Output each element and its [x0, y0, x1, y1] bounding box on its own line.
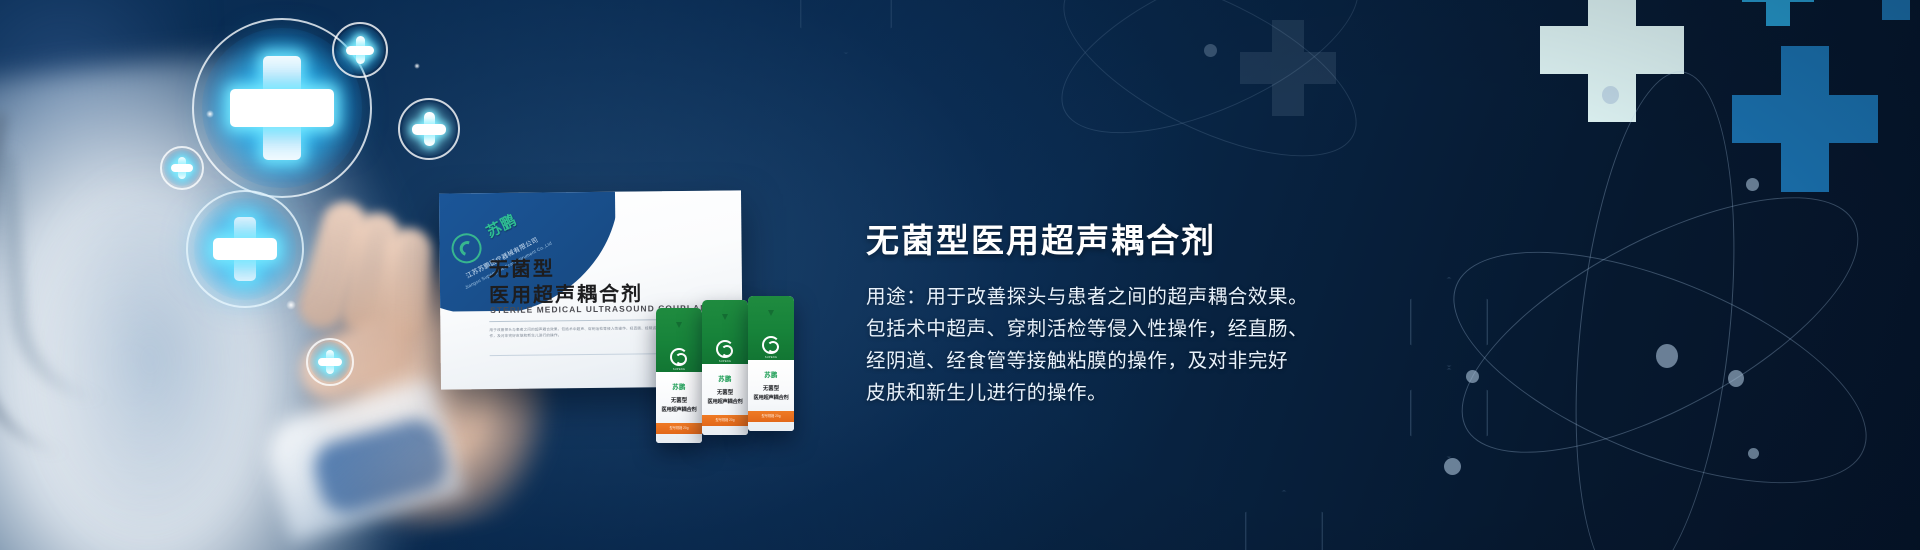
sachet-line1: 无菌型: [656, 396, 702, 404]
sachet-line2: 医用超声耦合剂: [702, 398, 748, 405]
banner-headline: 无菌型医用超声耦合剂: [866, 214, 1216, 262]
glow-cross-icon: [160, 146, 204, 190]
sachet: SUPENG 苏鹏 无菌型 医用超声耦合剂 型号规格 20g: [656, 308, 702, 443]
sachet-brand: 苏鹏: [656, 382, 702, 391]
glow-cross-icon: [186, 190, 304, 308]
sachet-weight-band: 型号规格 20g: [656, 423, 702, 434]
sachet-line2: 医用超声耦合剂: [656, 406, 702, 413]
sachet-swirl-caption: SUPENG: [748, 356, 794, 359]
sachet-swirl-caption: SUPENG: [656, 368, 702, 371]
sachet-brand: 苏鹏: [702, 374, 748, 383]
sachet: SUPENG 苏鹏 无菌型 医用超声耦合剂 型号规格 20g: [702, 300, 748, 435]
glow-cross-icon: [332, 22, 388, 78]
sachet-brand: 苏鹏: [748, 370, 794, 379]
sparkle-icon: [206, 110, 214, 118]
sachet-weight-band: 型号规格 20g: [748, 411, 794, 422]
sachet-line1: 无菌型: [702, 388, 748, 396]
sachet-weight: 型号规格 20g: [702, 415, 748, 426]
description-line: 皮肤和新生儿进行的操作。: [866, 377, 1308, 409]
product-banner: 苏鹏 江苏苏鹏医疗器械有限公司 Jiangsu Supeng Medical I…: [0, 0, 1920, 550]
sachet-weight: 型号规格 20g: [656, 423, 702, 434]
sachet-line2: 医用超声耦合剂: [748, 394, 794, 401]
description-line: 用途：用于改善探头与患者之间的超声耦合效果。: [866, 281, 1308, 313]
sachet-line1: 无菌型: [748, 384, 794, 392]
sachet-weight-band: 型号规格 20g: [702, 415, 748, 426]
glow-cross-icon: [398, 98, 460, 160]
sparkle-icon: [286, 300, 296, 310]
banner-description: 用途：用于改善探头与患者之间的超声耦合效果。 包括术中超声、穿刺活检等侵入性操作…: [866, 281, 1308, 409]
sachet: SUPENG 苏鹏 无菌型 医用超声耦合剂 型号规格 20g: [748, 296, 794, 431]
glow-cross-icon: [306, 338, 354, 386]
description-line: 包括术中超声、穿刺活检等侵入性操作，经直肠、: [866, 313, 1308, 345]
sachet-weight: 型号规格 20g: [748, 411, 794, 422]
sparkle-icon: [414, 63, 420, 69]
description-line: 经阴道、经食管等接触粘膜的操作，及对非完好: [866, 345, 1308, 377]
sachet-swirl-caption: SUPENG: [702, 360, 748, 363]
